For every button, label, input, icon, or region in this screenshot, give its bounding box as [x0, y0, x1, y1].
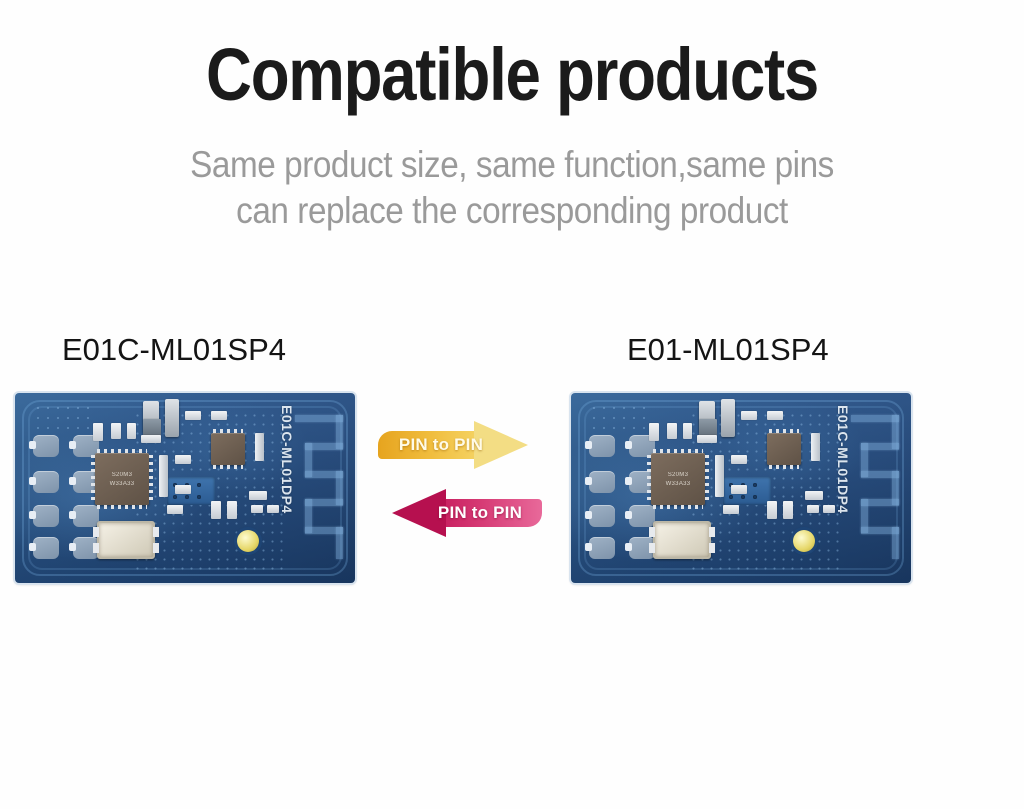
pin-hole [173, 495, 177, 499]
pcb-antenna [851, 415, 905, 565]
pcb-module-right: S20M3 W33A33 [571, 393, 911, 583]
via-grid-secondary [589, 403, 649, 437]
castellated-pad [589, 471, 615, 493]
crystal-pad [649, 527, 655, 537]
smd-component [211, 411, 227, 420]
crystal-pad [649, 543, 655, 553]
smd-component [683, 423, 692, 439]
product-label-right: E01-ML01SP4 [627, 332, 829, 368]
pin-hole [197, 495, 201, 499]
ic-pins-bottom [769, 465, 799, 469]
castellated-pad [73, 505, 99, 527]
castellated-half-hole [69, 511, 76, 519]
crystal-pad [93, 543, 99, 553]
castellated-half-hole [69, 441, 76, 449]
ic-pins-top [769, 429, 799, 433]
pin-to-pin-arrow-left: PIN to PIN [392, 490, 542, 536]
castellated-half-hole [29, 477, 36, 485]
pcb-antenna [295, 415, 349, 565]
castellated-half-hole [29, 543, 36, 551]
smd-component [667, 423, 677, 439]
crystal-pad [709, 527, 715, 537]
castellated-half-hole [625, 441, 632, 449]
ic-pins-left [91, 455, 95, 503]
ic-pins-bottom [213, 465, 243, 469]
crystal-pad [153, 527, 159, 537]
ic-pins-top [97, 449, 147, 453]
smd-component [805, 491, 823, 500]
castellated-half-hole [585, 511, 592, 519]
smd-component [807, 505, 819, 513]
castellated-pad [33, 435, 59, 457]
ic-pins-bottom [97, 505, 147, 509]
castellated-half-hole [625, 511, 632, 519]
smd-component [697, 435, 717, 443]
pin-hole [729, 495, 733, 499]
smd-component [159, 455, 168, 497]
smd-component [165, 399, 179, 437]
castellated-pad [33, 471, 59, 493]
castellated-half-hole [625, 543, 632, 551]
arrow-caption: PIN to PIN [378, 435, 528, 455]
crystal-pad [93, 527, 99, 537]
smd-component [167, 505, 183, 514]
smd-component [767, 411, 783, 420]
ic-pins-right [149, 455, 153, 503]
castellated-pad [589, 505, 615, 527]
smd-component [811, 433, 820, 461]
compatible-products-slide: Compatible products Same product size, s… [0, 0, 1024, 809]
castellated-half-hole [29, 441, 36, 449]
product-label-left: E01C-ML01SP4 [62, 332, 286, 368]
castellated-pad [589, 435, 615, 457]
smd-component [111, 423, 121, 439]
smd-component [731, 455, 747, 464]
smd-component [227, 501, 237, 519]
arrow-caption: PIN to PIN [392, 503, 542, 523]
pin-hole [197, 483, 201, 487]
via-grid-secondary [33, 403, 93, 437]
smd-component [211, 501, 221, 519]
castellated-half-hole [69, 543, 76, 551]
pin-hole [753, 483, 757, 487]
crystal-oscillator [653, 521, 711, 559]
smd-component [823, 505, 835, 513]
gold-test-pad [237, 530, 259, 552]
smd-component [141, 435, 161, 443]
smd-component [731, 485, 747, 494]
ic-marking-line-1: S20M3 [95, 471, 149, 480]
smd-component [715, 455, 724, 497]
smd-component [721, 399, 735, 437]
castellated-pad [629, 505, 655, 527]
ic-pins-left [647, 455, 651, 503]
smd-component [767, 501, 777, 519]
page-subtitle: Same product size, same function,same pi… [51, 142, 973, 235]
smd-component [741, 411, 757, 420]
smd-component [175, 455, 191, 464]
smd-component [251, 505, 263, 513]
pin-hole [185, 495, 189, 499]
silkscreen-text: E01C-ML01DP4 [835, 405, 851, 514]
ic-marking-line-2: W33A33 [95, 480, 149, 489]
ic-marking-line-1: S20M3 [651, 471, 705, 480]
pcb-module-left: S20M3 W33A33 [15, 393, 355, 583]
main-ic: S20M3 W33A33 [95, 453, 149, 505]
castellated-pad [33, 505, 59, 527]
main-ic: S20M3 W33A33 [651, 453, 705, 505]
castellated-pad [33, 537, 59, 559]
smd-component [175, 485, 191, 494]
secondary-ic [211, 433, 245, 465]
subtitle-line-1: Same product size, same function,same pi… [51, 142, 973, 188]
smd-component [723, 505, 739, 514]
ic-pins-top [213, 429, 243, 433]
page-title: Compatible products [72, 36, 953, 114]
ic-pins-right [705, 455, 709, 503]
smd-component [267, 505, 279, 513]
smd-component [93, 423, 103, 441]
smd-component [783, 501, 793, 519]
castellated-half-hole [585, 441, 592, 449]
ic-pins-top [653, 449, 703, 453]
smd-component [255, 433, 264, 461]
silkscreen-text: E01C-ML01DP4 [279, 405, 295, 514]
secondary-ic [767, 433, 801, 465]
pin-hole [753, 495, 757, 499]
smd-component [649, 423, 659, 441]
pin-to-pin-arrow-right: PIN to PIN [378, 422, 528, 468]
pin-hole [741, 495, 745, 499]
crystal-pad [153, 543, 159, 553]
crystal-pad [709, 543, 715, 553]
castellated-half-hole [585, 543, 592, 551]
subtitle-line-2: can replace the corresponding product [51, 188, 973, 234]
castellated-half-hole [625, 477, 632, 485]
crystal-oscillator [97, 521, 155, 559]
castellated-half-hole [69, 477, 76, 485]
gold-test-pad [793, 530, 815, 552]
castellated-half-hole [585, 477, 592, 485]
castellated-pad [589, 537, 615, 559]
ic-marking-line-2: W33A33 [651, 480, 705, 489]
smd-component [249, 491, 267, 500]
ic-pins-bottom [653, 505, 703, 509]
castellated-half-hole [29, 511, 36, 519]
smd-component [185, 411, 201, 420]
smd-component [127, 423, 136, 439]
